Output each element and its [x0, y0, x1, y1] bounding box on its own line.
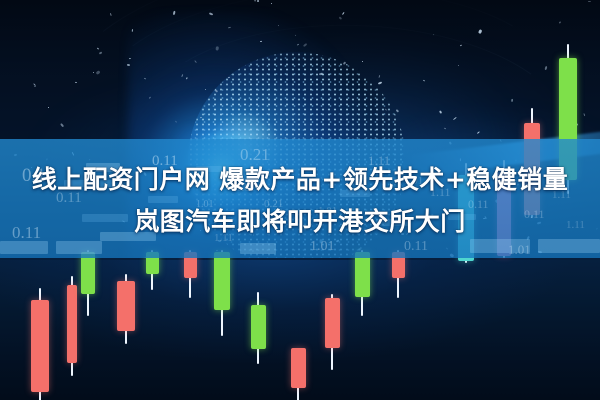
banner-image: 0.110.111.010.111.011.010.210.211.011.11… — [0, 0, 600, 400]
headline-block: 线上配资门户网 爆款产品+领先技术+稳健销量 岚图汽车即将叩开港交所大门 — [0, 139, 600, 258]
candlestick-body — [355, 252, 370, 297]
candlestick-body — [31, 300, 49, 392]
headline-line-2: 岚图汽车即将叩开港交所大门 — [134, 202, 466, 238]
candlestick-body — [67, 285, 77, 363]
headline-line-1: 线上配资门户网 爆款产品+领先技术+稳健销量 — [32, 160, 569, 196]
candlestick-body — [214, 252, 230, 310]
candlestick-body — [117, 281, 135, 331]
candlestick-body — [291, 348, 306, 388]
candlestick-body — [81, 252, 95, 294]
candlestick-body — [251, 305, 266, 349]
candlestick-body — [325, 298, 340, 348]
